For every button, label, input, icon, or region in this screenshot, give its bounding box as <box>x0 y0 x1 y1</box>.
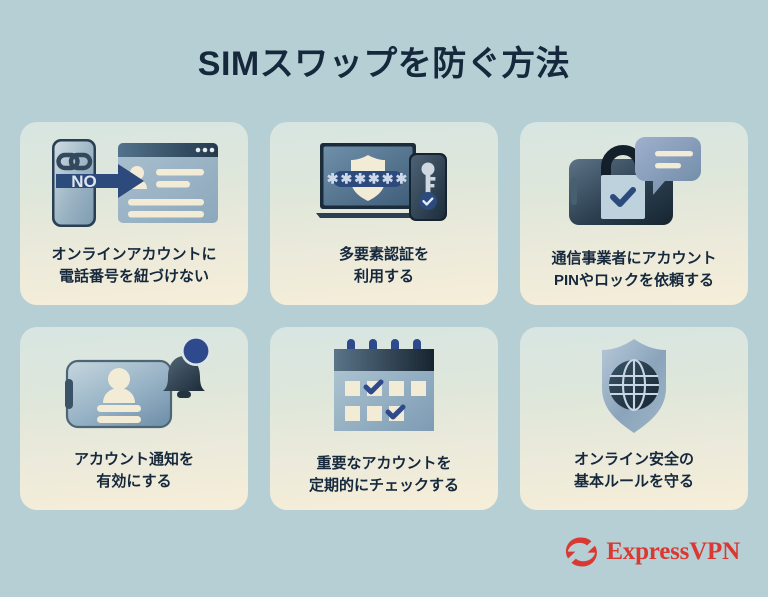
phone-no-link-icon: NO <box>20 122 248 240</box>
expressvpn-e-logo-icon <box>563 535 597 569</box>
tips-grid: NO オンラインアカウントに 電話番号を紐づけない <box>20 122 748 510</box>
expressvpn-logo: ExpressVPN <box>563 535 740 569</box>
page-title: SIMスワップを防ぐ方法 <box>0 36 768 85</box>
expressvpn-wordmark: ExpressVPN <box>606 538 740 566</box>
svg-text:✱✱✱✱✱✱: ✱✱✱✱✱✱ <box>327 171 409 187</box>
account-card-bell-notification-icon <box>20 327 248 445</box>
calendar-checkmarks-icon <box>270 327 498 445</box>
tip-card-1-caption: オンラインアカウントに 電話番号を紐づけない <box>28 244 240 287</box>
tip-card-5: 重要なアカウントを 定期的にチェックする <box>270 327 498 510</box>
tip-card-5-caption: 重要なアカウントを 定期的にチェックする <box>278 453 490 496</box>
tip-card-1: NO オンラインアカウントに 電話番号を紐づけない <box>20 122 248 305</box>
tip-card-6-caption: オンライン安全の 基本ルールを守る <box>528 449 740 492</box>
tip-card-3: 通信事業者にアカウント PINやロックを依頼する <box>520 122 748 305</box>
shield-globe-icon <box>520 327 748 445</box>
tip-card-4: アカウント通知を 有効にする <box>20 327 248 510</box>
tip-card-2: ✱✱✱✱✱✱ 多要素認証を 利用する <box>270 122 498 305</box>
tip-card-2-caption: 多要素認証を 利用する <box>278 244 490 287</box>
tip-card-6: オンライン安全の 基本ルールを守る <box>520 327 748 510</box>
tip-card-3-caption: 通信事業者にアカウント PINやロックを依頼する <box>528 248 740 291</box>
laptop-shield-password-phone-key-icon: ✱✱✱✱✱✱ <box>270 122 498 240</box>
tip-card-4-caption: アカウント通知を 有効にする <box>28 449 240 492</box>
padlock-check-chat-bubble-icon <box>520 122 748 240</box>
svg-text:NO: NO <box>71 172 97 191</box>
